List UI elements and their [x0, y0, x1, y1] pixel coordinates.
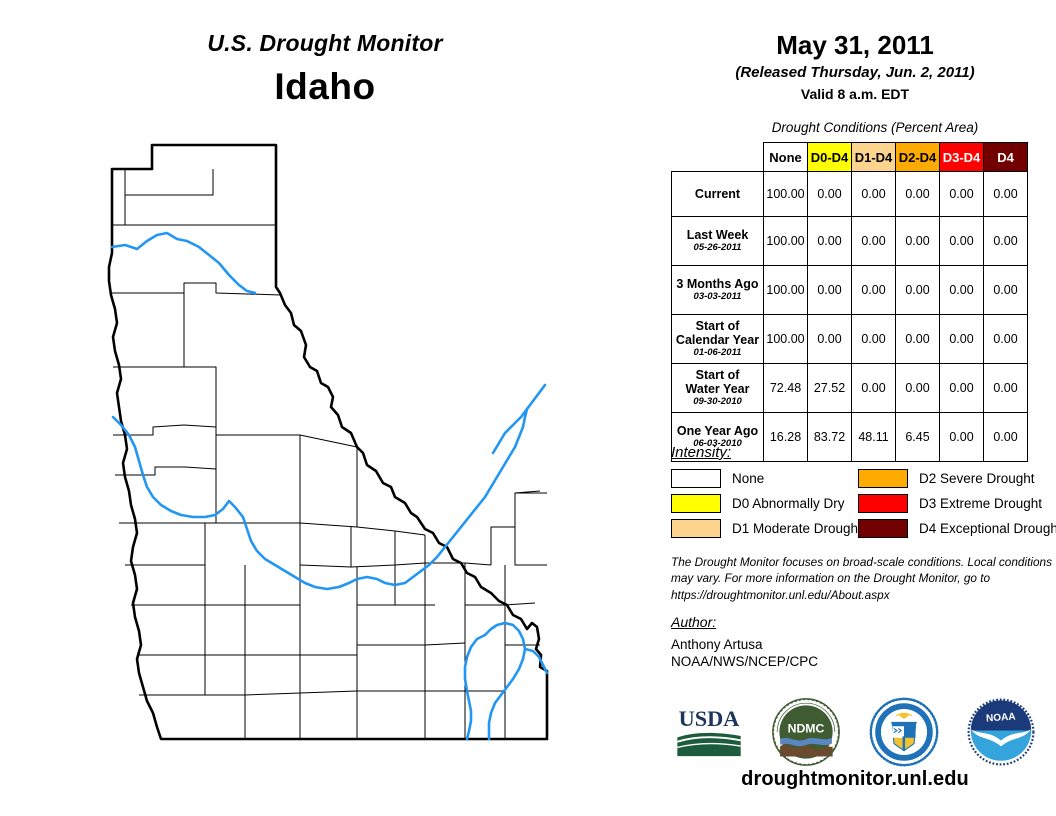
table-cell: 0.00 — [984, 364, 1028, 413]
page-title: U.S. Drought Monitor — [0, 30, 650, 57]
table-cell: 0.00 — [940, 364, 984, 413]
report-date: May 31, 2011 — [660, 30, 1050, 61]
table-cell: 83.72 — [808, 413, 852, 462]
table-cell: 16.28 — [764, 413, 808, 462]
intensity-heading: Intensity: — [671, 444, 731, 461]
table-cell: 48.11 — [852, 413, 896, 462]
table-cell: 100.00 — [764, 172, 808, 217]
legend-item: D1 Moderate Drought — [671, 516, 862, 541]
legend-label: D1 Moderate Drought — [732, 521, 862, 536]
col-header-none: None — [764, 143, 808, 172]
table-cell: 100.00 — [764, 315, 808, 364]
legend-label: D2 Severe Drought — [919, 471, 1035, 486]
table-cell: 0.00 — [896, 315, 940, 364]
table-cell: 0.00 — [984, 172, 1028, 217]
col-header-d3d4: D3-D4 — [940, 143, 984, 172]
table-cell: 72.48 — [764, 364, 808, 413]
table-cell: 100.00 — [764, 217, 808, 266]
col-header-d1d4: D1-D4 — [852, 143, 896, 172]
disclaimer-text: The Drought Monitor focuses on broad-sca… — [671, 554, 1053, 603]
table-row: 3 Months Ago03-03-2011100.000.000.000.00… — [672, 266, 1028, 315]
table-cell: 0.00 — [852, 315, 896, 364]
table-cell: 0.00 — [896, 217, 940, 266]
logo-row: USDA NDMC — [660, 692, 1050, 772]
row-date: 01-06-2011 — [675, 348, 760, 359]
table-cell: 0.00 — [940, 217, 984, 266]
legend-label: D0 Abnormally Dry — [732, 496, 845, 511]
row-date: 03-03-2011 — [675, 292, 760, 303]
legend-swatch — [671, 469, 721, 488]
legend-swatch — [858, 494, 908, 513]
table-cell: 0.00 — [808, 315, 852, 364]
released-date: (Released Thursday, Jun. 2, 2011) — [660, 64, 1050, 81]
legend-item: D4 Exceptional Drought — [858, 516, 1056, 541]
legend-label: None — [732, 471, 764, 486]
col-header-d4: D4 — [984, 143, 1028, 172]
commerce-seal[interactable] — [868, 696, 940, 768]
legend-column-right: D2 Severe DroughtD3 Extreme DroughtD4 Ex… — [858, 466, 1056, 541]
row-label: Start ofWater Year09-30-2010 — [672, 364, 764, 413]
row-label: Last Week05-26-2011 — [672, 217, 764, 266]
table-cell: 0.00 — [852, 364, 896, 413]
col-header-d0d4: D0-D4 — [808, 143, 852, 172]
corner-cell — [672, 143, 764, 172]
table-cell: 6.45 — [896, 413, 940, 462]
legend-column-left: NoneD0 Abnormally DryD1 Moderate Drought — [671, 466, 862, 541]
legend-swatch — [671, 494, 721, 513]
legend-label: D3 Extreme Drought — [919, 496, 1042, 511]
state-fill — [109, 145, 547, 739]
table-cell: 0.00 — [896, 172, 940, 217]
valid-time: Valid 8 a.m. EDT — [660, 86, 1050, 102]
author-name: Anthony Artusa — [671, 637, 763, 652]
legend-item: D0 Abnormally Dry — [671, 491, 862, 516]
drought-conditions-table: None D0-D4 D1-D4 D2-D4 D3-D4 D4 Current1… — [671, 142, 1028, 462]
row-label: 3 Months Ago03-03-2011 — [672, 266, 764, 315]
row-date: 05-26-2011 — [675, 243, 760, 254]
row-label: Current — [672, 172, 764, 217]
legend-swatch — [671, 519, 721, 538]
legend-swatch — [858, 519, 908, 538]
table-row: Last Week05-26-2011100.000.000.000.000.0… — [672, 217, 1028, 266]
table-cell: 0.00 — [852, 217, 896, 266]
legend-item: D2 Severe Drought — [858, 466, 1056, 491]
table-cell: 0.00 — [896, 266, 940, 315]
legend-swatch — [858, 469, 908, 488]
table-caption: Drought Conditions (Percent Area) — [700, 120, 1050, 135]
table-cell: 0.00 — [940, 172, 984, 217]
table-cell: 0.00 — [940, 266, 984, 315]
legend-item: None — [671, 466, 862, 491]
author-organization: NOAA/NWS/NCEP/CPC — [671, 654, 818, 669]
legend-label: D4 Exceptional Drought — [919, 521, 1056, 536]
table-body: Current100.000.000.000.000.000.00Last We… — [672, 172, 1028, 462]
table-row: Start ofCalendar Year01-06-2011100.000.0… — [672, 315, 1028, 364]
table-cell: 0.00 — [940, 413, 984, 462]
table-header-row: None D0-D4 D1-D4 D2-D4 D3-D4 D4 — [672, 143, 1028, 172]
table-cell: 0.00 — [896, 364, 940, 413]
svg-text:NOAA: NOAA — [986, 711, 1017, 724]
table-cell: 0.00 — [984, 413, 1028, 462]
legend-item: D3 Extreme Drought — [858, 491, 1056, 516]
table-cell: 0.00 — [808, 217, 852, 266]
table-cell: 0.00 — [852, 266, 896, 315]
table-cell: 0.00 — [984, 217, 1028, 266]
noaa-logo[interactable]: NOAA — [965, 696, 1037, 768]
table-cell: 0.00 — [984, 266, 1028, 315]
info-panel: May 31, 2011 (Released Thursday, Jun. 2,… — [660, 0, 1056, 816]
table-cell: 0.00 — [808, 266, 852, 315]
table-cell: 0.00 — [984, 315, 1028, 364]
state-name: Idaho — [0, 66, 650, 108]
map-panel: U.S. Drought Monitor Idaho — [0, 0, 660, 816]
table-cell: 27.52 — [808, 364, 852, 413]
usda-logo[interactable]: USDA — [673, 696, 745, 768]
svg-text:USDA: USDA — [678, 706, 739, 731]
table-cell: 0.00 — [940, 315, 984, 364]
col-header-d2d4: D2-D4 — [896, 143, 940, 172]
table-cell: 0.00 — [852, 172, 896, 217]
ndmc-logo[interactable]: NDMC — [770, 696, 842, 768]
svg-text:NDMC: NDMC — [788, 722, 825, 736]
row-date: 09-30-2010 — [675, 397, 760, 408]
table-cell: 100.00 — [764, 266, 808, 315]
table-row: Start ofWater Year09-30-201072.4827.520.… — [672, 364, 1028, 413]
idaho-drought-map[interactable] — [95, 135, 595, 795]
row-label: Start ofCalendar Year01-06-2011 — [672, 315, 764, 364]
table-cell: 0.00 — [808, 172, 852, 217]
website-url[interactable]: droughtmonitor.unl.edu — [660, 768, 1050, 791]
table-row: Current100.000.000.000.000.000.00 — [672, 172, 1028, 217]
author-heading: Author: — [671, 614, 716, 630]
